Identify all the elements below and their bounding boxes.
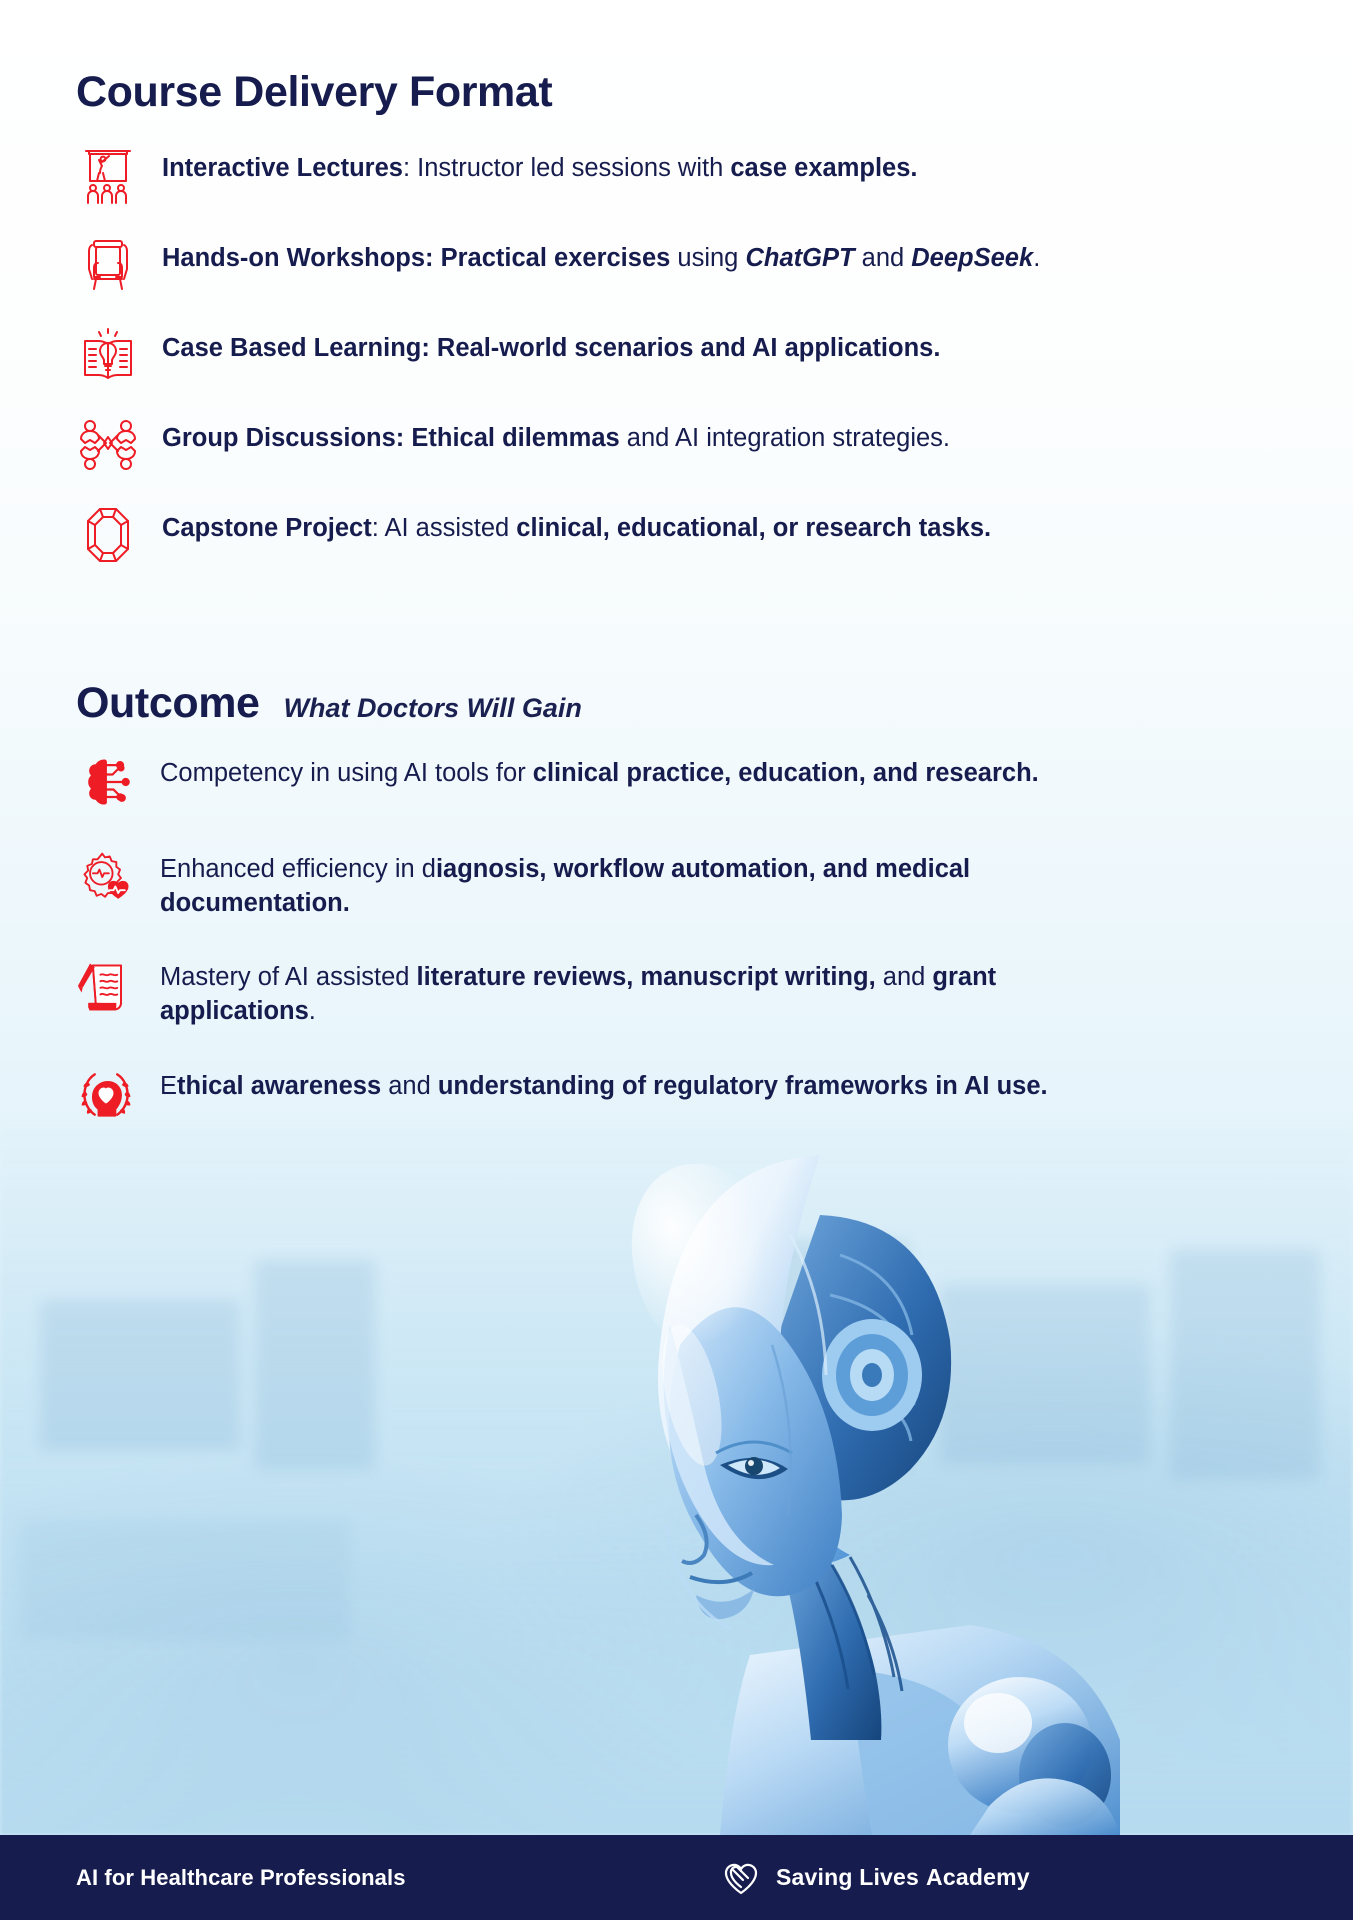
outcome-heading: Outcome What Doctors Will Gain [76, 679, 1353, 728]
brand-name-part2: Academy [926, 1864, 1030, 1890]
list-item-text: Interactive Lectures: Instructor led ses… [162, 143, 918, 185]
list-item: Enhanced efficiency in diagnosis, workfl… [76, 848, 1353, 920]
group-discussion-icon [76, 413, 140, 477]
ai-circuit-brain-icon [76, 752, 136, 812]
scroll-pen-icon [76, 956, 136, 1016]
book-lightbulb-icon [76, 323, 140, 387]
list-item: Hands-on Workshops: Practical exercises … [76, 233, 1353, 297]
hands-on-workshop-icon [76, 233, 140, 297]
footer-left-label: AI for Healthcare Professionals [76, 1865, 406, 1891]
outcome-list: Competency in using AI tools for clinica… [0, 752, 1353, 1125]
list-item: Mastery of AI assisted literature review… [76, 956, 1353, 1028]
brand-name: Saving LivesAcademy [776, 1864, 1030, 1891]
footer-bar: AI for Healthcare Professionals Saving L… [0, 1835, 1353, 1920]
brand-name-part1: Saving Lives [776, 1864, 919, 1890]
presentation-lecture-icon [76, 143, 140, 207]
list-item: Interactive Lectures: Instructor led ses… [76, 143, 1353, 207]
poster-page: Course Delivery Format [0, 0, 1353, 1920]
course-delivery-title: Course Delivery Format [76, 68, 1353, 117]
list-item-text: Group Discussions: Ethical dilemmas and … [162, 413, 950, 455]
list-item: Group Discussions: Ethical dilemmas and … [76, 413, 1353, 477]
ethics-laurel-head-icon [76, 1065, 136, 1125]
outcome-title: Outcome [76, 679, 260, 728]
gear-heartbeat-icon [76, 848, 136, 908]
list-item-text: Mastery of AI assisted literature review… [160, 956, 1060, 1028]
gem-capstone-icon [76, 503, 140, 567]
list-item: Competency in using AI tools for clinica… [76, 752, 1353, 812]
list-item-text: Capstone Project: AI assisted clinical, … [162, 503, 991, 545]
list-item-text: Competency in using AI tools for clinica… [160, 752, 1039, 790]
list-item: Capstone Project: AI assisted clinical, … [76, 503, 1353, 567]
list-item-text: Enhanced efficiency in diagnosis, workfl… [160, 848, 1060, 920]
poster-content: Course Delivery Format [0, 0, 1353, 1125]
humanoid-ai-robot-photo [520, 1095, 1120, 1835]
heart-logo-icon [720, 1857, 762, 1899]
course-delivery-list: Interactive Lectures: Instructor led ses… [0, 143, 1353, 567]
list-item-text: Hands-on Workshops: Practical exercises … [162, 233, 1040, 275]
brand-lockup: Saving LivesAcademy [720, 1857, 1030, 1899]
outcome-subtitle: What Doctors Will Gain [284, 693, 582, 724]
list-item: Case Based Learning: Real-world scenario… [76, 323, 1353, 387]
list-item-text: Case Based Learning: Real-world scenario… [162, 323, 940, 365]
